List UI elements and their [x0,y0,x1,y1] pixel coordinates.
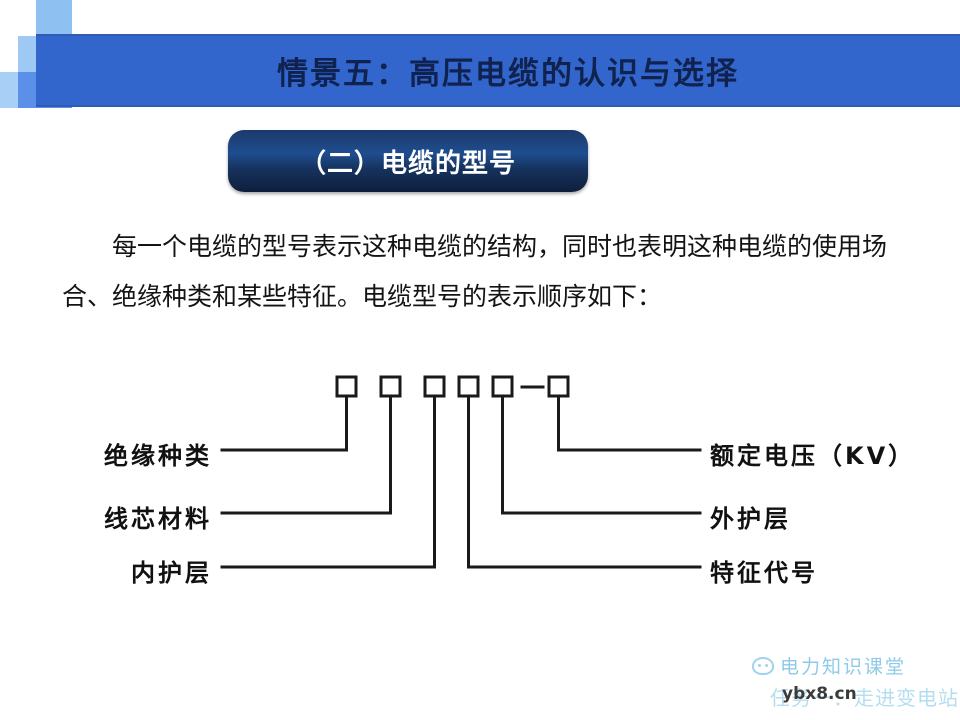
model-box-2 [381,377,400,396]
watermark-brand: 电力知识课堂 [752,652,906,679]
watermark-url: ybx8.cn [782,684,857,704]
slide-canvas: 情景五：高压电缆的认识与选择 （二）电缆的型号 每一个电缆的型号表示这种电缆的结… [0,0,960,720]
cable-model-diagram: 绝缘种类 线芯材料 内护层 额定电压（KV） 外护层 特征代号 [0,360,960,600]
leader-line-insulation [222,396,347,450]
page-title: 情景五：高压电缆的认识与选择 [277,48,739,93]
diagram-label-feature-code: 特征代号 [710,553,818,588]
diagram-label-outer-sheath: 外护层 [710,499,791,534]
model-box-5 [493,377,512,396]
model-box-3 [425,377,444,396]
diagram-label-inner-sheath: 内护层 [66,553,212,588]
decor-square-mid-light [18,36,36,72]
watermark-brand-label: 电力知识课堂 [780,652,906,679]
section-subtitle-label: （二）电缆的型号 [300,143,516,180]
leader-line-core-material [222,396,391,513]
model-box-1 [337,377,356,396]
decor-square-bottom-accent [18,72,36,108]
slide-title-bar: 情景五：高压电缆的认识与选择 [36,34,960,107]
leader-line-outer-sheath [503,396,701,513]
diagram-label-insulation: 绝缘种类 [66,436,212,471]
decor-square-top [36,0,72,36]
diagram-label-rated-voltage: 额定电压（KV） [710,436,915,471]
model-box-6 [549,377,568,396]
section-subtitle-pill: （二）电缆的型号 [228,130,588,192]
wechat-smiley-icon [752,657,774,675]
model-box-4 [459,377,478,396]
diagram-label-core-material: 线芯材料 [66,499,212,534]
body-paragraph: 每一个电缆的型号表示这种电缆的结构，同时也表明这种电缆的使用场合、绝缘种类和某些… [62,222,912,322]
leader-line-inner-sheath [222,396,435,567]
leader-line-rated-voltage [559,396,701,450]
